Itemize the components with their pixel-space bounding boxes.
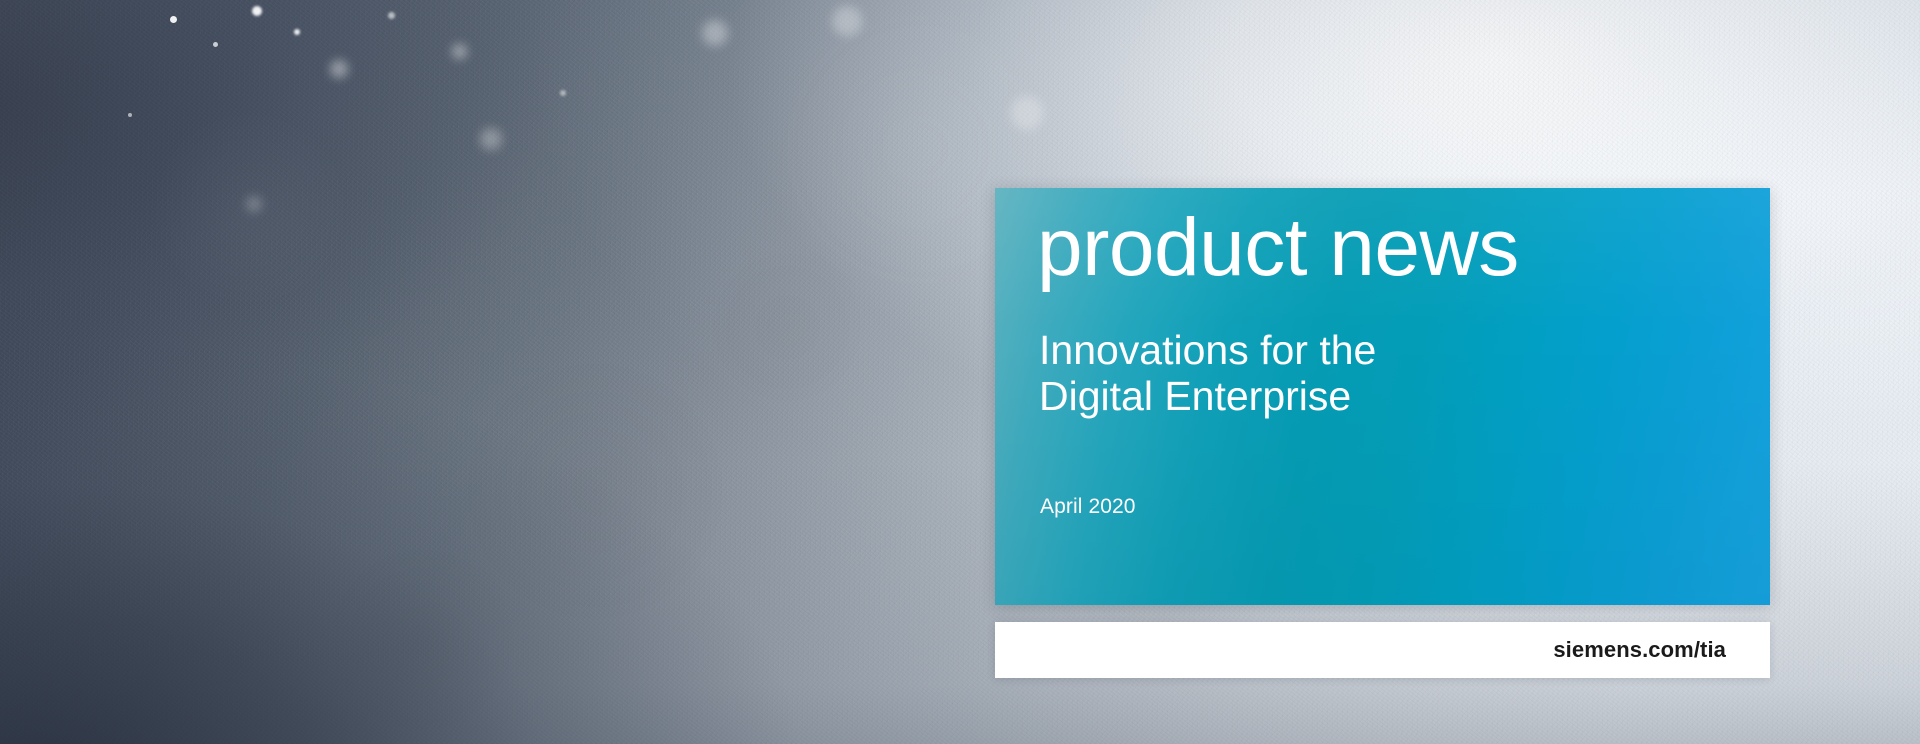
light-speck-icon	[294, 29, 300, 35]
light-speck-icon	[1010, 96, 1044, 130]
light-speck-icon	[560, 90, 566, 96]
light-speck-icon	[330, 60, 348, 78]
title-card: product news Innovations for the Digital…	[995, 188, 1770, 605]
footer-bar: siemens.com/tia	[995, 622, 1770, 678]
light-speck-icon	[388, 12, 395, 19]
light-speck-icon	[452, 44, 467, 59]
title-card-content: product news Innovations for the Digital…	[995, 188, 1770, 605]
light-speck-icon	[213, 42, 218, 47]
siemens-url-link[interactable]: siemens.com/tia	[1553, 637, 1726, 663]
light-speck-icon	[252, 6, 262, 16]
page-subtitle-line-2: Digital Enterprise	[1039, 374, 1376, 420]
title-slide: product news Innovations for the Digital…	[0, 0, 1920, 744]
page-subtitle: Innovations for the Digital Enterprise	[1039, 328, 1376, 420]
page-subtitle-line-1: Innovations for the	[1039, 328, 1376, 374]
light-speck-icon	[702, 20, 728, 46]
light-speck-icon	[170, 16, 177, 23]
light-speck-icon	[832, 6, 862, 36]
light-speck-icon	[246, 196, 262, 212]
publication-date: April 2020	[1040, 495, 1136, 519]
light-speck-icon	[480, 128, 502, 150]
light-speck-icon	[128, 113, 132, 117]
page-title: product news	[1037, 200, 1519, 297]
